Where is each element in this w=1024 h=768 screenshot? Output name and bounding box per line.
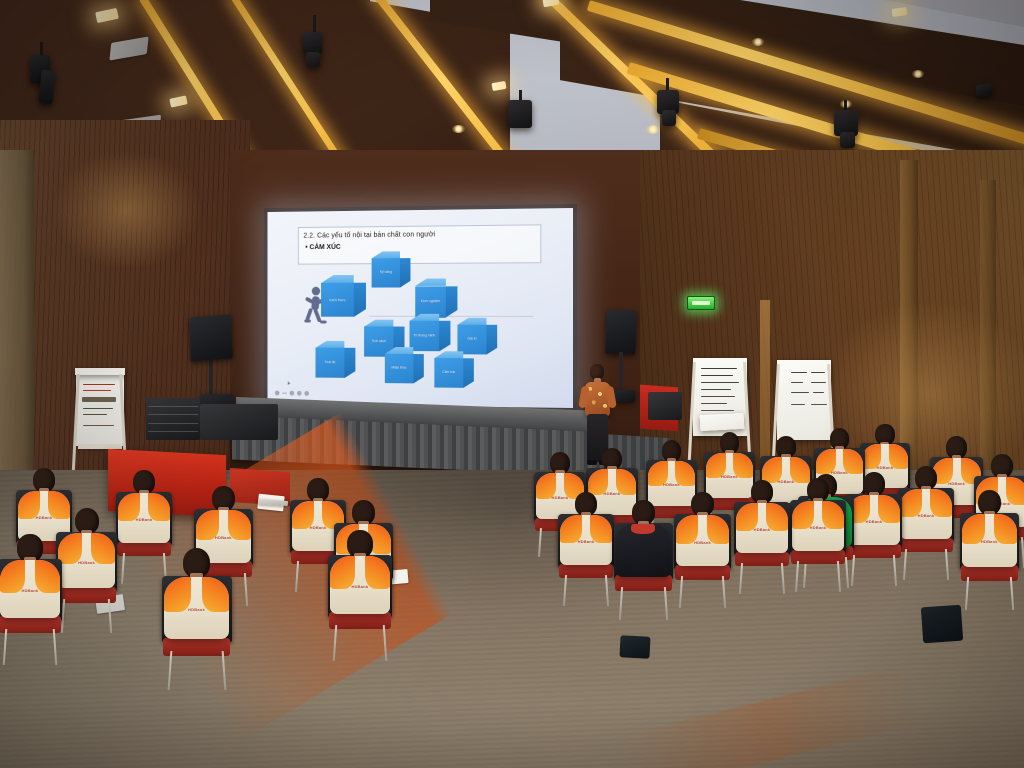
audience-torso: HDBank [330,556,390,614]
audience-torso: HDBank [0,560,60,618]
audience-member: HDBank [900,466,952,542]
chair-leg-right [605,575,609,606]
chair-leg-left [619,587,623,620]
chair-leg-left [563,575,567,606]
audience-member: HDBank [962,490,1017,570]
chair-leg-right [893,555,897,586]
shirt-logo: HDBank [810,525,827,530]
audience-torso: HDBank [164,577,229,640]
conference-room-photo: 2.2. Các yếu tố nội tại bản chất con ngư… [0,0,1024,768]
shirt-logo: HDBank [352,584,369,589]
chair-leg-right [945,549,949,580]
audience-member: HDBank [676,492,729,570]
audience-member: HDBank [848,472,900,548]
shirt-logo: HDBank [981,539,998,544]
chair-leg-left [333,625,338,661]
shirt-logo: HDBank [78,560,95,565]
audience-torso: HDBank [736,503,788,553]
audience-member: HDBank [0,534,60,621]
audience-torso: HDBank [560,515,612,565]
audience-member: HDBank [118,470,170,546]
shirt-logo: HDBank [721,474,738,479]
chair-leg-left [965,577,969,610]
audience-member [616,500,671,580]
shirt-logo: HDBank [876,465,893,470]
bag-2 [619,635,650,659]
audience-member: HDBank [58,508,115,592]
chair-leg-left [679,576,683,608]
shirt-logo: HDBank [694,540,711,545]
chair-leg-left [3,629,8,665]
shirt-logo: HDBank [663,482,680,487]
shirt-logo: HDBank [188,607,205,612]
chair-leg-right [664,587,668,620]
chair-leg-right [244,573,248,606]
shirt-logo: HDBank [866,519,883,524]
shirt-logo: HDBank [754,527,771,532]
chair-leg-right [108,599,112,633]
chair-leg-right [52,629,57,665]
chair-leg-right [1010,577,1014,610]
shirt-logo: HDBank [36,515,53,520]
shirt-logo: HDBank [918,513,935,518]
chair-leg-right [837,561,841,592]
chair-leg-left [795,561,799,592]
chair-leg-right [221,651,226,690]
chair-leg-right [781,563,785,594]
audience-torso: HDBank [848,495,900,545]
audience-torso: HDBank [118,493,170,543]
shirt-logo: HDBank [136,517,153,522]
chair-leg-left [167,651,172,690]
chair-leg-left [295,561,299,592]
audience-torso: HDBank [962,514,1017,567]
audience-member: HDBank [330,530,390,617]
audience-member: HDBank [736,480,788,556]
chair-leg-right [722,576,726,608]
audience-torso: HDBank [900,489,952,539]
audience-torso [616,524,671,577]
chair-leg-left [739,563,743,594]
chair-leg-left [903,549,907,580]
chair-leg-left [538,528,542,557]
audience-torso: HDBank [792,501,844,551]
shirt-logo: HDBank [22,588,39,593]
audience-member: HDBank [560,492,612,568]
chair-leg-right [382,625,387,661]
audience-member: HDBank [792,478,844,554]
shirt-shoulder-right [202,577,229,612]
audience: HDBankHDBankHDBankHDBankHDBankHDBankHDBa… [0,0,1024,768]
shirt-logo: HDBank [578,539,595,544]
shirt-logo: HDBank [215,535,232,540]
shirt-logo: HDBank [310,525,327,530]
audience-member: HDBank [164,548,229,643]
chair-leg-left [121,553,125,584]
audience-torso: HDBank [676,515,729,566]
audience-torso: HDBank [58,533,115,588]
backpack [921,605,963,644]
